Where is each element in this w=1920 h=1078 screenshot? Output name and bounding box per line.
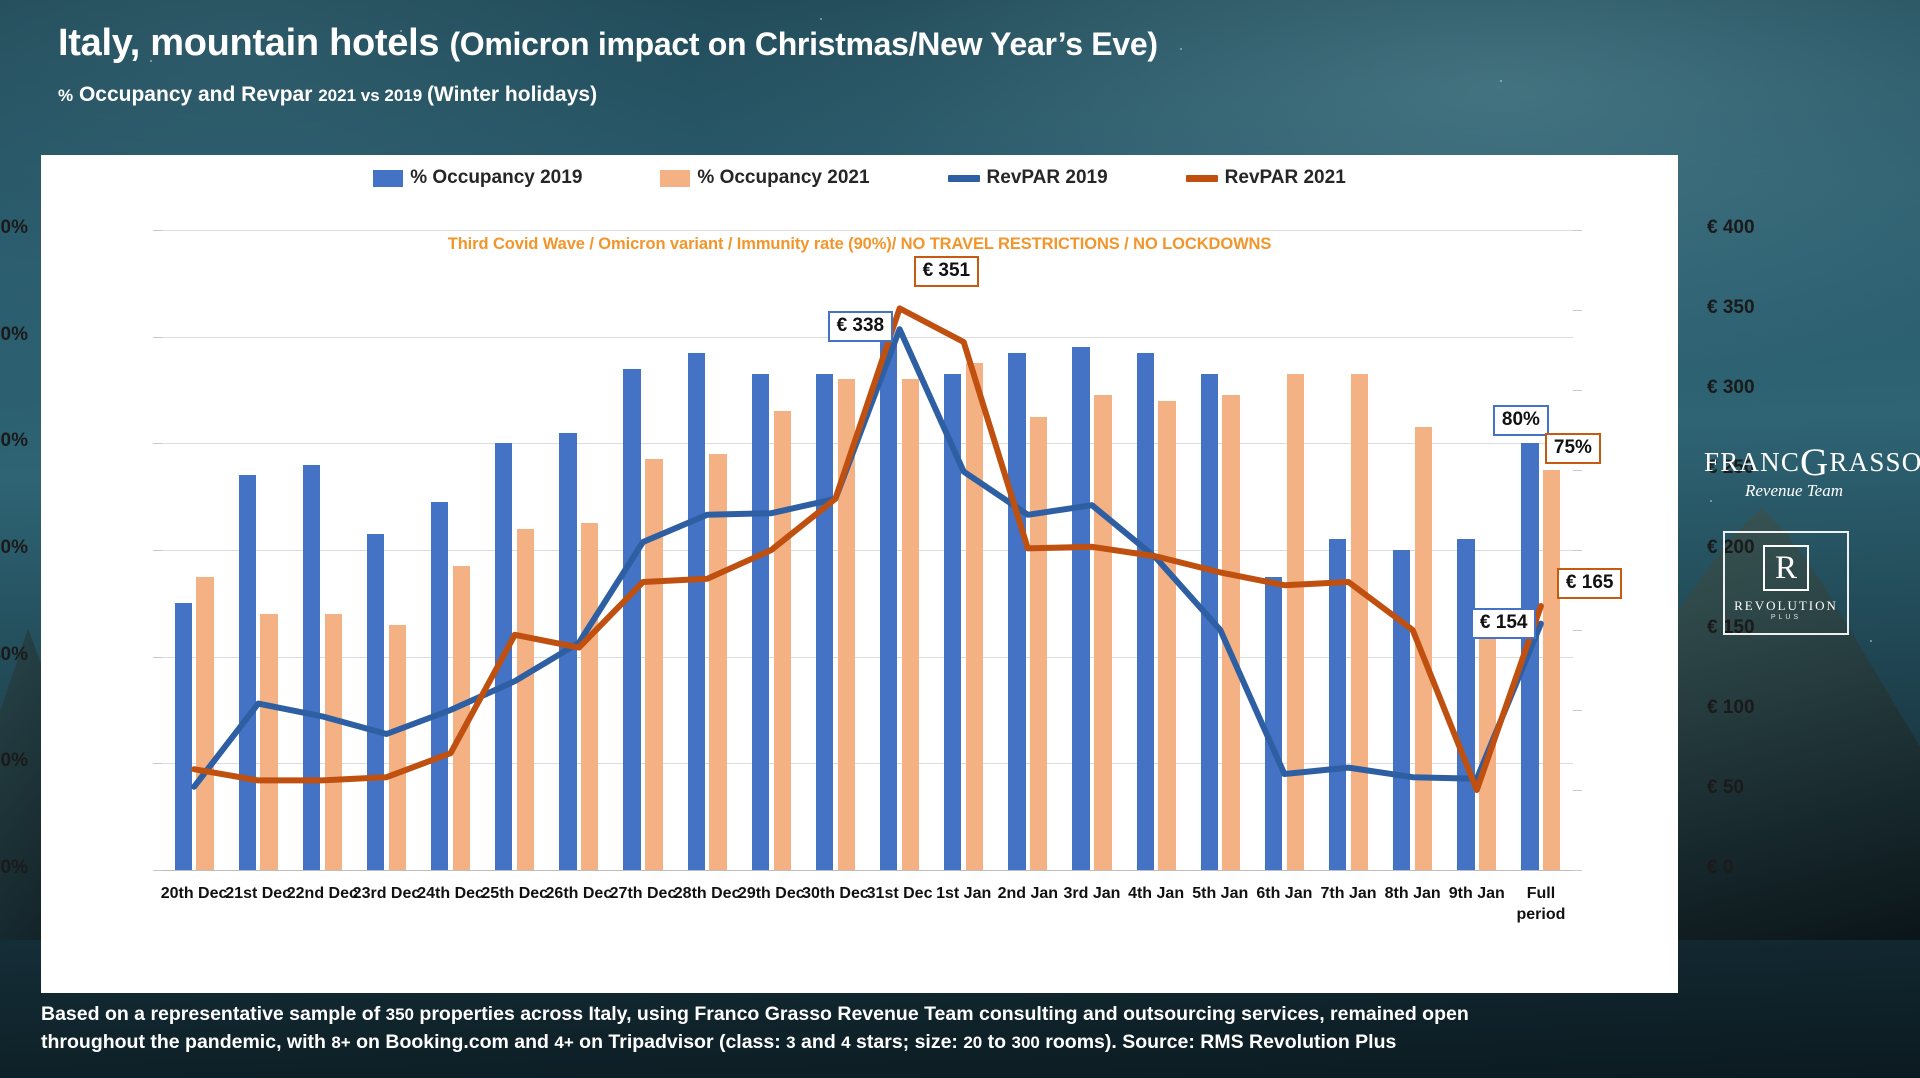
data-callout: 75% bbox=[1545, 433, 1601, 464]
revolution-logo-sub: PLUS bbox=[1771, 614, 1801, 621]
bar-group bbox=[1188, 230, 1252, 870]
bar-group bbox=[162, 230, 226, 870]
y-axis-label-right: € 100 bbox=[1707, 697, 1837, 719]
footer-text: stars; size: bbox=[851, 1031, 964, 1053]
bar-occupancy-2021[interactable] bbox=[966, 363, 983, 870]
y-axis-tick-right bbox=[1573, 870, 1582, 871]
legend-item-revpar-2019[interactable]: RevPAR 2019 bbox=[948, 167, 1108, 189]
y-axis-tick-left bbox=[153, 657, 162, 658]
footer-text: properties across Italy, using Franco Gr… bbox=[414, 1003, 1469, 1025]
y-axis-label-left: 100% bbox=[0, 324, 28, 346]
footer-tripadvisor-rating: 4+ bbox=[554, 1033, 573, 1052]
bar-group bbox=[1445, 230, 1509, 870]
bar-occupancy-2021[interactable] bbox=[325, 614, 342, 870]
bar-group bbox=[996, 230, 1060, 870]
y-axis-label-left: 60% bbox=[0, 537, 28, 559]
bar-group bbox=[1381, 230, 1445, 870]
footer-class-min: 3 bbox=[786, 1033, 795, 1052]
y-axis-label-right: € 0 bbox=[1707, 857, 1837, 879]
bar-group bbox=[483, 230, 547, 870]
y-axis-tick-left bbox=[153, 550, 162, 551]
bar-group bbox=[547, 230, 611, 870]
footer-text: to bbox=[982, 1031, 1011, 1053]
footer-size-max: 300 bbox=[1012, 1033, 1040, 1052]
bar-occupancy-2021[interactable] bbox=[1030, 417, 1047, 870]
bar-occupancy-2021[interactable] bbox=[902, 379, 919, 870]
bar-occupancy-2019[interactable] bbox=[752, 374, 769, 870]
bar-occupancy-2019[interactable] bbox=[175, 603, 192, 870]
bar-occupancy-2019[interactable] bbox=[1457, 539, 1474, 870]
data-callout: € 165 bbox=[1557, 568, 1623, 599]
bar-group bbox=[611, 230, 675, 870]
bar-group bbox=[932, 230, 996, 870]
bar-occupancy-2019[interactable] bbox=[1393, 550, 1410, 870]
footer-text: and bbox=[796, 1031, 842, 1053]
revolution-plus-logo: R REVOLUTION PLUS bbox=[1723, 531, 1849, 635]
revolution-logo-name: REVOLUTION bbox=[1734, 598, 1838, 614]
y-axis-tick-left bbox=[153, 870, 162, 871]
y-axis-tick-right bbox=[1573, 790, 1582, 791]
footer-line-1: Based on a representative sample of 350 … bbox=[41, 1000, 1761, 1028]
y-axis-tick-right bbox=[1573, 230, 1582, 231]
revolution-r-mark: R bbox=[1763, 545, 1809, 591]
footer-text: Based on a representative sample of bbox=[41, 1003, 386, 1025]
bar-occupancy-2019[interactable] bbox=[431, 502, 448, 870]
footer-sample-size: 350 bbox=[386, 1005, 414, 1024]
bar-occupancy-2021[interactable] bbox=[1287, 374, 1304, 870]
y-axis-label-left: 40% bbox=[0, 644, 28, 666]
bar-occupancy-2019[interactable] bbox=[688, 353, 705, 870]
legend-swatch-bar-orange bbox=[660, 170, 690, 187]
subtitle-period-text: (Winter holidays) bbox=[427, 83, 597, 106]
legend-item-occupancy-2019[interactable]: % Occupancy 2019 bbox=[373, 167, 582, 189]
bar-occupancy-2021[interactable] bbox=[260, 614, 277, 870]
y-axis-tick-left bbox=[153, 443, 162, 444]
bar-group bbox=[290, 230, 354, 870]
bar-occupancy-2021[interactable] bbox=[645, 459, 662, 870]
bar-occupancy-2019[interactable] bbox=[623, 369, 640, 870]
y-axis-label-left: 80% bbox=[0, 430, 28, 452]
bar-group bbox=[1252, 230, 1316, 870]
chart-panel: % Occupancy 2019 % Occupancy 2021 RevPAR… bbox=[41, 155, 1678, 993]
logo-text-bigG: G bbox=[1800, 441, 1829, 484]
y-axis-tick-right bbox=[1573, 710, 1582, 711]
title-paren-text: (Omicron impact on Christmas/New Year’s … bbox=[449, 26, 1157, 62]
bar-occupancy-2021[interactable] bbox=[1094, 395, 1111, 870]
legend-swatch-line-orange bbox=[1186, 175, 1218, 182]
footer-class-max: 4 bbox=[841, 1033, 850, 1052]
bar-group bbox=[419, 230, 483, 870]
footer-text: throughout the pandemic, with bbox=[41, 1031, 331, 1053]
y-axis-tick-left bbox=[153, 337, 162, 338]
data-callout: € 338 bbox=[828, 311, 894, 342]
title-main-text: Italy, mountain hotels bbox=[58, 22, 449, 64]
plot-area: 0%20%40%60%80%100%120%€ 0€ 50€ 100€ 150€… bbox=[162, 230, 1573, 870]
footer-text: rooms). Source: RMS Revolution Plus bbox=[1040, 1031, 1396, 1053]
bar-occupancy-2021[interactable] bbox=[1415, 427, 1432, 870]
y-axis-label-left: 120% bbox=[0, 217, 28, 239]
footer-text: on Booking.com and bbox=[351, 1031, 555, 1053]
bar-occupancy-2019[interactable] bbox=[1072, 347, 1089, 870]
bar-occupancy-2019[interactable] bbox=[1329, 539, 1346, 870]
y-axis-label-right: € 300 bbox=[1707, 377, 1837, 399]
logo-text-part2: RASSO bbox=[1829, 447, 1920, 477]
bar-group bbox=[1509, 230, 1573, 870]
bar-occupancy-2019[interactable] bbox=[944, 374, 961, 870]
bar-occupancy-2019[interactable] bbox=[1201, 374, 1218, 870]
y-axis-label-right: € 350 bbox=[1707, 297, 1837, 319]
y-axis-label-left: 0% bbox=[0, 857, 28, 879]
franco-grasso-logo: FRANCGRASSO Revenue Team bbox=[1704, 440, 1884, 501]
y-axis-label-right: € 50 bbox=[1707, 777, 1837, 799]
legend-label: RevPAR 2019 bbox=[987, 167, 1108, 189]
footer-note: Based on a representative sample of 350 … bbox=[41, 1000, 1761, 1057]
bar-occupancy-2019[interactable] bbox=[1521, 443, 1538, 870]
bar-group bbox=[739, 230, 803, 870]
bar-occupancy-2019[interactable] bbox=[239, 475, 256, 870]
legend-item-occupancy-2021[interactable]: % Occupancy 2021 bbox=[660, 167, 869, 189]
y-axis-tick-right bbox=[1573, 630, 1582, 631]
data-callout: € 351 bbox=[914, 256, 980, 287]
legend-swatch-bar-blue bbox=[373, 170, 403, 187]
bar-occupancy-2021[interactable] bbox=[709, 454, 726, 870]
bar-occupancy-2019[interactable] bbox=[367, 534, 384, 870]
bar-occupancy-2021[interactable] bbox=[517, 529, 534, 870]
footer-line-2: throughout the pandemic, with 8+ on Book… bbox=[41, 1028, 1761, 1056]
bar-occupancy-2021[interactable] bbox=[196, 577, 213, 870]
bar-occupancy-2019[interactable] bbox=[1265, 577, 1282, 870]
bar-occupancy-2021[interactable] bbox=[1543, 470, 1560, 870]
bar-occupancy-2021[interactable] bbox=[838, 379, 855, 870]
subtitle-years-text: 2021 vs 2019 bbox=[318, 86, 427, 105]
bar-occupancy-2021[interactable] bbox=[1479, 635, 1496, 870]
subtitle-percent-symbol: % bbox=[58, 86, 73, 105]
y-axis-tick-right bbox=[1573, 390, 1582, 391]
bar-occupancy-2021[interactable] bbox=[1351, 374, 1368, 870]
legend-label: % Occupancy 2021 bbox=[697, 167, 869, 189]
legend-label: % Occupancy 2019 bbox=[410, 167, 582, 189]
y-axis-label-left: 20% bbox=[0, 750, 28, 772]
bar-occupancy-2019[interactable] bbox=[559, 433, 576, 870]
subtitle-metric-text: Occupancy and Revpar bbox=[73, 83, 318, 106]
bar-occupancy-2019[interactable] bbox=[495, 443, 512, 870]
data-callout: 80% bbox=[1493, 405, 1549, 436]
footer-booking-rating: 8+ bbox=[331, 1033, 350, 1052]
bar-group bbox=[226, 230, 290, 870]
y-axis-label-right: € 400 bbox=[1707, 217, 1837, 239]
legend-label: RevPAR 2021 bbox=[1225, 167, 1346, 189]
bar-occupancy-2021[interactable] bbox=[1222, 395, 1239, 870]
bar-occupancy-2019[interactable] bbox=[1137, 353, 1154, 870]
y-axis-tick-right bbox=[1573, 550, 1582, 551]
y-axis-tick-right bbox=[1573, 310, 1582, 311]
bar-occupancy-2021[interactable] bbox=[1158, 401, 1175, 870]
bar-group bbox=[1060, 230, 1124, 870]
gridline bbox=[162, 870, 1573, 871]
bar-group bbox=[675, 230, 739, 870]
data-callout: € 154 bbox=[1471, 608, 1537, 639]
legend-item-revpar-2021[interactable]: RevPAR 2021 bbox=[1186, 167, 1346, 189]
footer-text: on Tripadvisor (class: bbox=[574, 1031, 786, 1053]
logo-text-part1: FRANC bbox=[1704, 447, 1800, 477]
bar-occupancy-2019[interactable] bbox=[880, 342, 897, 870]
y-axis-tick-right bbox=[1573, 470, 1582, 471]
y-axis-tick-left bbox=[153, 230, 162, 231]
chart-legend: % Occupancy 2019 % Occupancy 2021 RevPAR… bbox=[41, 167, 1678, 189]
bar-occupancy-2019[interactable] bbox=[816, 374, 833, 870]
bar-group bbox=[1316, 230, 1380, 870]
footer-size-min: 20 bbox=[963, 1033, 982, 1052]
bar-occupancy-2019[interactable] bbox=[303, 465, 320, 870]
bar-occupancy-2021[interactable] bbox=[581, 523, 598, 870]
bar-group bbox=[1124, 230, 1188, 870]
bar-occupancy-2021[interactable] bbox=[389, 625, 406, 870]
bar-occupancy-2021[interactable] bbox=[453, 566, 470, 870]
bar-occupancy-2021[interactable] bbox=[774, 411, 791, 870]
bar-group bbox=[354, 230, 418, 870]
x-axis-label: Fullperiod bbox=[1503, 884, 1579, 926]
legend-swatch-line-blue bbox=[948, 175, 980, 182]
page-title: Italy, mountain hotels (Omicron impact o… bbox=[58, 22, 1758, 65]
page-subtitle: % Occupancy and Revpar 2021 vs 2019 (Win… bbox=[58, 83, 597, 107]
y-axis-tick-left bbox=[153, 763, 162, 764]
bar-occupancy-2019[interactable] bbox=[1008, 353, 1025, 870]
